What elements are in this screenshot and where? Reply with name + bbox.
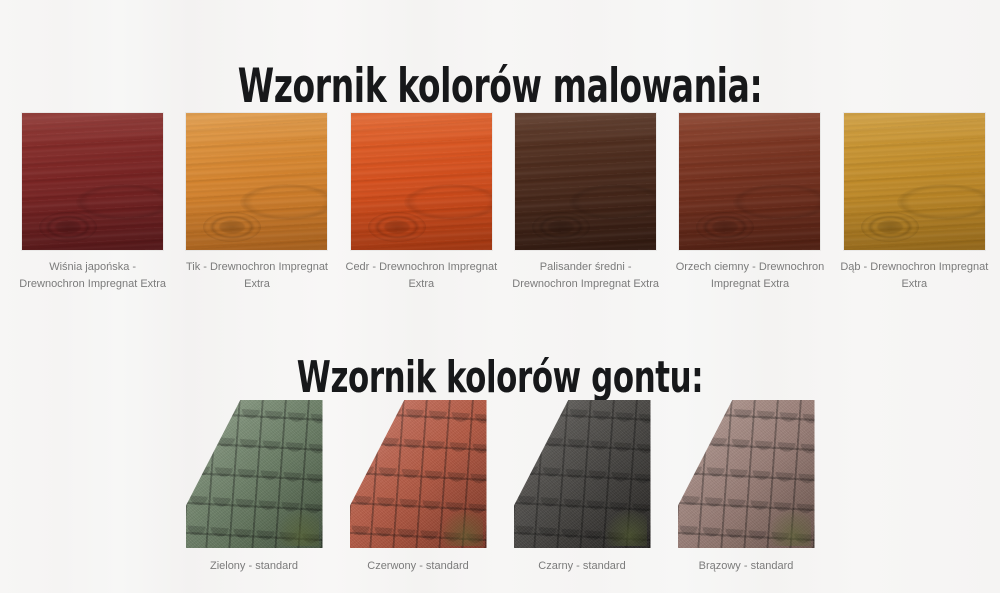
paint-color-swatch[interactable] — [351, 113, 492, 250]
paint-swatch-label: Cedr - Drewnochron Impregnat Extra — [345, 259, 497, 293]
paint-color-swatch[interactable] — [515, 113, 656, 250]
moss-stain — [277, 510, 319, 546]
paint-swatch-row: Wiśnia japońska - Drewnochron Impregnat … — [0, 113, 1000, 293]
page-title-shingle-colors: Wzornik kolorów gontu: — [110, 356, 890, 400]
paint-swatch-label: Orzech ciemny - Drewnochron Impregnat Ex… — [674, 259, 826, 293]
shingle-swatch-row: Zielony - standardCzerwony - standardCza… — [0, 400, 1000, 574]
shingle-swatch-item[interactable]: Zielony - standard — [174, 400, 334, 574]
paint-color-swatch[interactable] — [186, 113, 327, 250]
shingle-color-swatch[interactable] — [350, 400, 487, 548]
shingle-color-swatch[interactable] — [186, 400, 323, 548]
wood-grain-texture — [186, 113, 327, 250]
paint-color-swatch[interactable] — [22, 113, 163, 250]
shingle-color-swatch[interactable] — [514, 400, 651, 548]
paint-swatch-label: Tik - Drewnochron Impregnat Extra — [181, 259, 333, 293]
paint-color-swatch[interactable] — [679, 113, 820, 250]
paint-swatch-item[interactable]: Dąb - Drewnochron Impregnat Extra — [836, 113, 993, 293]
paint-color-swatch[interactable] — [844, 113, 985, 250]
shingle-swatch-item[interactable]: Brązowy - standard — [666, 400, 826, 574]
moss-stain — [605, 510, 647, 546]
paint-swatch-item[interactable]: Cedr - Drewnochron Impregnat Extra — [343, 113, 500, 293]
page-title-paint-colors: Wzornik kolorów malowania: — [110, 63, 890, 110]
shingle-swatch-item[interactable]: Czarny - standard — [502, 400, 662, 574]
wood-grain-texture — [844, 113, 985, 250]
shingle-swatch-item[interactable]: Czerwony - standard — [338, 400, 498, 574]
wood-grain-texture — [515, 113, 656, 250]
wood-grain-texture — [351, 113, 492, 250]
shingle-color-swatch[interactable] — [678, 400, 815, 548]
shingle-swatch-label: Czarny - standard — [497, 558, 667, 574]
paint-swatch-label: Wiśnia japońska - Drewnochron Impregnat … — [17, 259, 169, 293]
shingle-swatch-label: Brązowy - standard — [661, 558, 831, 574]
paint-swatch-item[interactable]: Orzech ciemny - Drewnochron Impregnat Ex… — [671, 113, 828, 293]
paint-swatch-label: Dąb - Drewnochron Impregnat Extra — [838, 259, 990, 293]
moss-stain — [769, 510, 811, 546]
wood-grain-texture — [679, 113, 820, 250]
wood-grain-texture — [22, 113, 163, 250]
paint-swatch-item[interactable]: Tik - Drewnochron Impregnat Extra — [178, 113, 335, 293]
paint-swatch-item[interactable]: Palisander średni - Drewnochron Impregna… — [507, 113, 664, 293]
moss-stain — [441, 510, 483, 546]
paint-swatch-item[interactable]: Wiśnia japońska - Drewnochron Impregnat … — [14, 113, 171, 293]
paint-swatch-label: Palisander średni - Drewnochron Impregna… — [510, 259, 662, 293]
shingle-swatch-label: Czerwony - standard — [333, 558, 503, 574]
shingle-swatch-label: Zielony - standard — [169, 558, 339, 574]
color-sampler-page: Wzornik kolorów malowania: Wiśnia japońs… — [0, 0, 1000, 593]
